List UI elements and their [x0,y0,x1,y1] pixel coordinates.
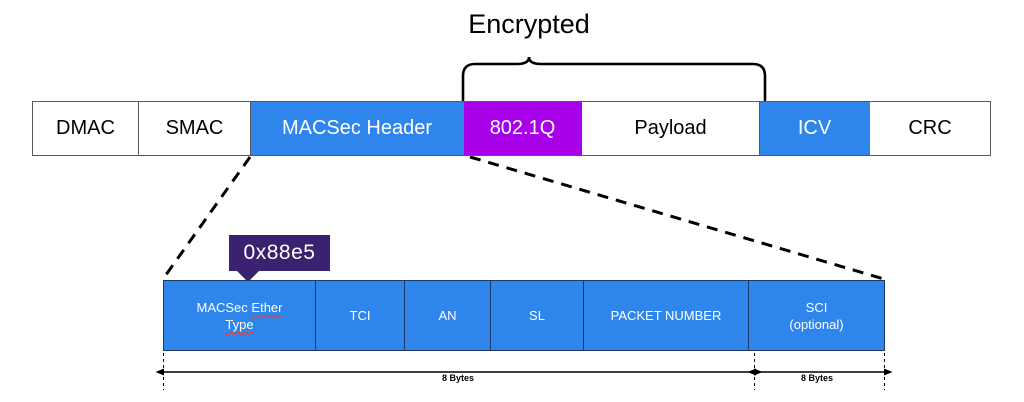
frame-field-smac: SMAC [139,102,251,155]
encrypted-bracket-label: Encrypted [468,8,590,40]
encrypted-brace [463,57,765,100]
macsec-field-tci: TCI [316,281,405,350]
macsec-field-an: AN [405,281,491,350]
macsec-field-label: SL [529,307,545,324]
macsec-field-label-line2: Type [197,316,283,333]
frame-field-macsec-header: MACSec Header [251,102,464,155]
ethertype-badge: 0x88e5 [229,235,330,271]
macsec-field-macsec-ether-type: MACSec EtherType [164,281,316,350]
macsec-field-sl: SL [491,281,584,350]
macsec-field-label: MACSec EtherType [197,299,283,333]
macsec-field-label-line1: SCI [789,299,843,316]
frame-field-icv: ICV [760,102,870,155]
macsec-field-label-line2: (optional) [789,316,843,333]
macsec-field-label-line1: MACSec Ether [197,299,283,316]
macsec-field-word-ether: Ether [251,300,282,315]
frame-field-802-1q: 802.1Q [464,102,582,155]
macsec-field-label: PACKET NUMBER [611,307,722,324]
macsec-field-label: SCI(optional) [789,299,843,333]
macsec-field-label: TCI [350,307,371,324]
macsec-field-label: AN [438,307,456,324]
macsec-field-packet-number: PACKET NUMBER [584,281,749,350]
frame-field-payload: Payload [582,102,760,155]
macsec-header-detail: MACSec EtherTypeTCIANSLPACKET NUMBERSCI(… [163,280,885,351]
macsec-field-word-macsec: MACSec [197,300,252,315]
ethernet-frame: DMACSMACMACSec Header802.1QPayloadICVCRC [32,101,991,156]
frame-field-crc: CRC [870,102,990,155]
macsec-field-sci-optional-: SCI(optional) [749,281,884,350]
dimension-label-left: 8 Bytes [442,373,474,383]
frame-field-dmac: DMAC [33,102,139,155]
ethertype-badge-value: 0x88e5 [244,241,316,265]
dimension-label-right: 8 Bytes [801,373,833,383]
leader-line-right [470,157,884,279]
